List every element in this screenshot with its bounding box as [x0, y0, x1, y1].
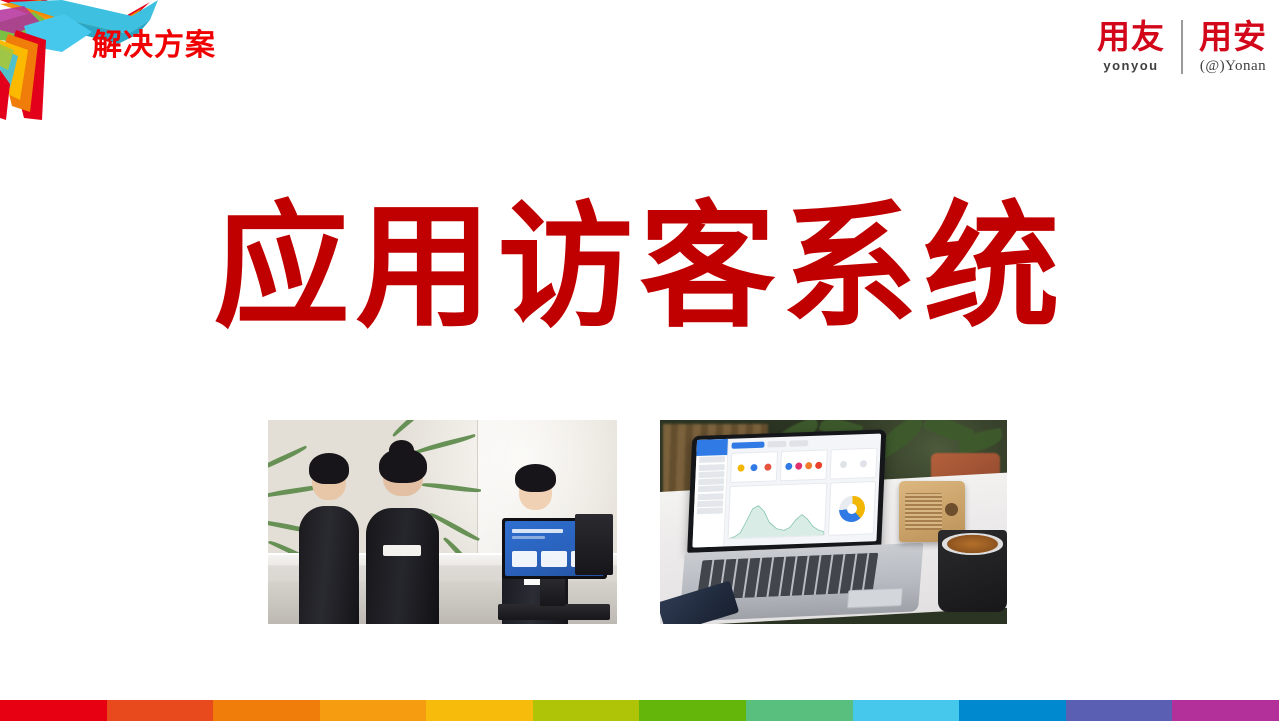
color-swatch-7 [639, 700, 746, 721]
color-swatch-12 [1172, 700, 1279, 721]
person-hair [309, 453, 349, 484]
dashboard-sidebar[interactable] [693, 439, 730, 548]
area-chart-svg [729, 498, 826, 539]
brand-secondary-en: (@)Yonan [1200, 58, 1266, 75]
stat-icon [751, 464, 758, 471]
brand-logo: 用友 yonyou 用安 (@)Yonan [1097, 20, 1267, 82]
visitor-person-center [366, 436, 439, 624]
photo-row [268, 420, 1007, 624]
color-swatch-9 [853, 700, 960, 721]
brand-divider [1181, 20, 1183, 74]
stat-card[interactable] [731, 452, 779, 484]
brand-primary-cn: 用友 [1097, 20, 1165, 55]
color-swatch-10 [959, 700, 1066, 721]
stat-icon [785, 463, 792, 470]
kiosk-headline [512, 529, 563, 533]
sidebar-item[interactable] [698, 479, 725, 486]
color-swatch-11 [1066, 700, 1173, 721]
brand-primary-en: yonyou [1103, 58, 1158, 73]
stat-card[interactable] [830, 448, 878, 480]
laptop-screen[interactable] [693, 434, 882, 548]
stat-icon [840, 461, 847, 468]
person-hair [515, 464, 556, 492]
stat-card-row [731, 448, 878, 484]
primary-action-button[interactable] [732, 442, 764, 449]
color-swatch-3 [213, 700, 320, 721]
kiosk-stem [540, 577, 564, 606]
stat-icon [737, 464, 744, 471]
color-swatch-8 [746, 700, 853, 721]
stat-icon [806, 462, 813, 469]
toolbar-chip[interactable] [789, 441, 808, 447]
dashboard-chart-row [728, 482, 876, 540]
donut-chart [829, 482, 877, 537]
bottom-color-strip [0, 700, 1279, 721]
color-swatch-2 [107, 700, 214, 721]
page-section-label: 解决方案 [92, 28, 216, 64]
kiosk-side-panel [575, 514, 613, 575]
color-swatch-4 [320, 700, 427, 721]
color-swatch-1 [0, 700, 107, 721]
person-body [299, 506, 358, 624]
visitor-person-left [299, 444, 358, 624]
sidebar-item[interactable] [697, 500, 724, 507]
stat-icon [816, 462, 823, 469]
sidebar-item[interactable] [699, 457, 726, 464]
sidebar-item[interactable] [698, 471, 725, 478]
sidebar-header [697, 439, 729, 456]
page-title: 应用访客系统 [0, 196, 1279, 339]
photo-reception-desk [268, 420, 617, 624]
brand-secondary: 用安 (@)Yonan [1199, 20, 1267, 75]
brand-secondary-cn: 用安 [1199, 20, 1267, 55]
kiosk-button[interactable] [541, 551, 567, 568]
color-swatch-6 [533, 700, 640, 721]
stat-icon [765, 463, 772, 470]
sidebar-item[interactable] [699, 464, 726, 471]
kiosk-button[interactable] [512, 551, 538, 568]
kiosk-subline [512, 536, 546, 539]
person-collar [383, 545, 421, 556]
coffee-surface [942, 533, 1003, 554]
stat-card[interactable] [780, 450, 828, 482]
radio-knob [945, 503, 958, 516]
coffee-mug [938, 530, 1007, 612]
photo-laptop-dashboard [660, 420, 1007, 624]
sidebar-item[interactable] [697, 508, 724, 515]
toolbar-chip[interactable] [767, 441, 786, 447]
color-swatch-5 [426, 700, 533, 721]
laptop-lid [687, 430, 886, 554]
person-body [366, 508, 439, 624]
stat-icon [796, 462, 803, 469]
donut-ring [839, 495, 866, 522]
stat-icon [860, 460, 867, 467]
dashboard-main [725, 434, 881, 547]
kiosk-base [498, 604, 610, 620]
sidebar-item[interactable] [698, 486, 725, 493]
radio-speaker-grill [905, 493, 942, 530]
laptop-trackpad[interactable] [848, 588, 904, 609]
area-chart [728, 483, 828, 539]
ribbon-decoration [0, 0, 190, 130]
brand-primary: 用友 yonyou [1097, 20, 1165, 73]
sidebar-item[interactable] [697, 493, 724, 500]
ribbon-graphic [0, 0, 190, 130]
person-hair-bun [389, 440, 414, 461]
